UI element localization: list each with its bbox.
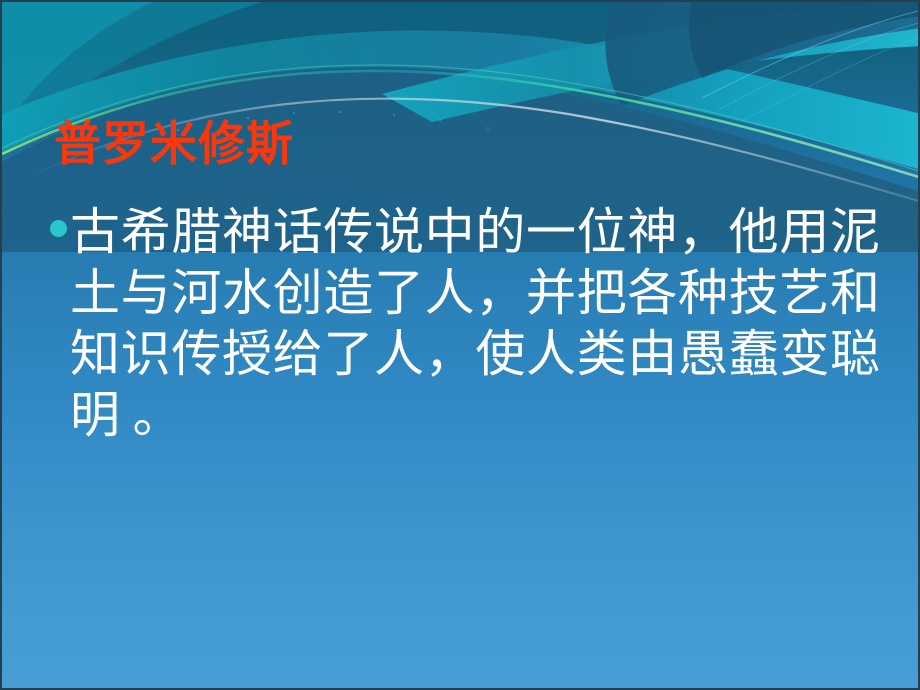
slide-title: 普罗米修斯: [54, 120, 294, 169]
bullet-list-item: 古希腊神话传说中的一位神，他用泥土与河水创造了人，并把各种技艺和知识传授给了人，…: [50, 202, 880, 446]
slide-content: 普罗米修斯 古希腊神话传说中的一位神，他用泥土与河水创造了人，并把各种技艺和知识…: [2, 2, 920, 690]
body-paragraph: 古希腊神话传说中的一位神，他用泥土与河水创造了人，并把各种技艺和知识传授给了人，…: [70, 202, 880, 446]
bullet-dot-icon: [50, 220, 67, 237]
presentation-slide: 普罗米修斯 古希腊神话传说中的一位神，他用泥土与河水创造了人，并把各种技艺和知识…: [0, 0, 920, 690]
